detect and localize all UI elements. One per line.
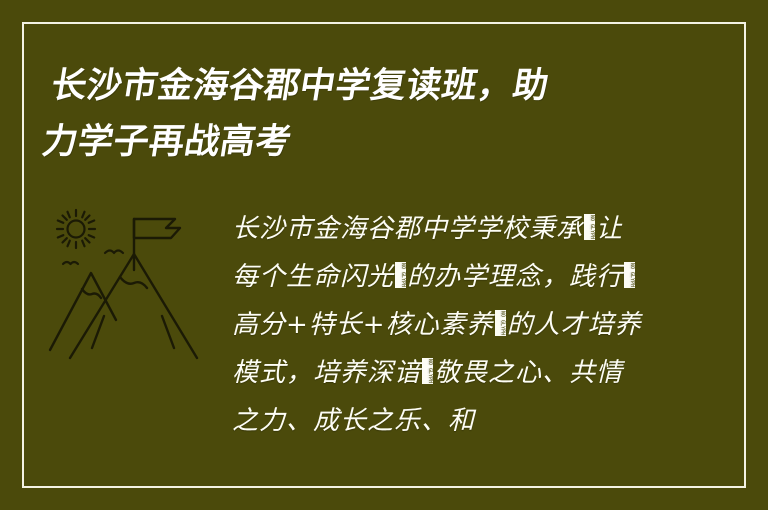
bird-icon <box>63 262 78 264</box>
promo-card: 长沙市金海谷郡中学复读班，助 力学子再战高考 <box>0 0 768 510</box>
body-text-run: 的办学理念，践行 <box>407 262 623 292</box>
missing-glyph-box: NO GLYPH <box>584 214 595 240</box>
summit-flag-icon <box>134 219 180 270</box>
page-title: 长沙市金海谷郡中学复读班，助 力学子再战高考 <box>38 58 696 170</box>
missing-glyph-box: NO GLYPH <box>624 262 635 288</box>
body-text-run: 长沙市金海谷郡中学学校秉承 <box>232 214 583 244</box>
body-paragraph: 长沙市金海谷郡中学学校秉承NO GLYPH让每个生命闪光NO GLYPH的办学理… <box>232 205 642 445</box>
missing-glyph-box: NO GLYPH <box>422 358 433 384</box>
mountain-peak-flag-illustration <box>44 198 224 363</box>
missing-glyph-box: NO GLYPH <box>495 310 506 336</box>
body-text-run: 高分+特长+核心素养 <box>232 310 494 340</box>
bird-icon <box>105 251 123 254</box>
sun-icon <box>57 210 95 248</box>
missing-glyph-box: NO GLYPH <box>395 262 406 288</box>
